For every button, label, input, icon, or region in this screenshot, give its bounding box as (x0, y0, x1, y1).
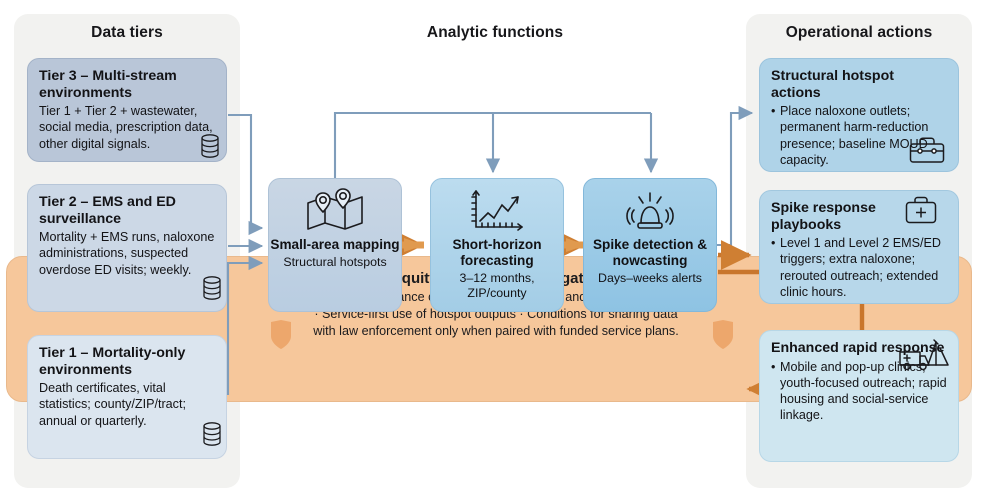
small-area-mapping-title: Small-area mapping (269, 237, 401, 253)
spike-detection-title: Spike detection & nowcasting (584, 237, 716, 269)
tier-3-title: Tier 3 – Multi-stream environments (39, 68, 215, 101)
tier-1-title: Tier 1 – Mortality-only environments (39, 345, 215, 378)
card-tier-3[interactable]: Tier 3 – Multi-stream environments Tier … (27, 58, 227, 162)
diagram-canvas: Equity and governance gates Stratified p… (0, 0, 986, 501)
analytic-functions-title: Analytic functions (330, 24, 660, 42)
database-icon (202, 276, 222, 300)
tier-1-body: Death certificates, vital statistics; co… (39, 380, 215, 429)
spike-detection-subtitle: Days–weeks alerts (584, 271, 716, 286)
card-short-horizon-forecasting[interactable]: Short-horizon forecasting 3–12 months, Z… (430, 178, 564, 312)
card-tier-1[interactable]: Tier 1 – Mortality-only environments Dea… (27, 335, 227, 459)
operational-actions-title: Operational actions (746, 24, 972, 42)
short-horizon-forecasting-title: Short-horizon forecasting (431, 237, 563, 269)
tier-2-body: Mortality + EMS runs, naloxone administr… (39, 229, 215, 278)
tier-3-body: Tier 1 + Tier 2 + wastewater, social med… (39, 103, 215, 152)
trend-chart-icon (431, 187, 563, 235)
card-small-area-mapping[interactable]: Small-area mapping Structural hotspots (268, 178, 402, 312)
ops-2-bullet: Level 1 and Level 2 EMS/ED triggers; ext… (771, 235, 947, 300)
data-tiers-title: Data tiers (14, 24, 240, 42)
short-horizon-forecasting-subtitle: 3–12 months, ZIP/county (431, 271, 563, 302)
tier-2-title: Tier 2 – EMS and ED surveillance (39, 194, 215, 227)
small-area-mapping-subtitle: Structural hotspots (269, 255, 401, 270)
toolbox-icon (909, 136, 945, 164)
equity-line-3: with law enforcement only when paired wi… (268, 323, 724, 340)
card-tier-2[interactable]: Tier 2 – EMS and ED surveillance Mortali… (27, 184, 227, 312)
map-pins-icon (269, 187, 401, 235)
medical-kit-icon (905, 196, 937, 224)
database-icon (202, 422, 222, 446)
siren-alert-icon (584, 187, 716, 235)
card-spike-detection[interactable]: Spike detection & nowcasting Days–weeks … (583, 178, 717, 312)
ops-1-title: Structural hotspot actions (771, 68, 947, 101)
mobile-clinic-van-icon (898, 340, 950, 372)
database-icon (200, 134, 220, 158)
